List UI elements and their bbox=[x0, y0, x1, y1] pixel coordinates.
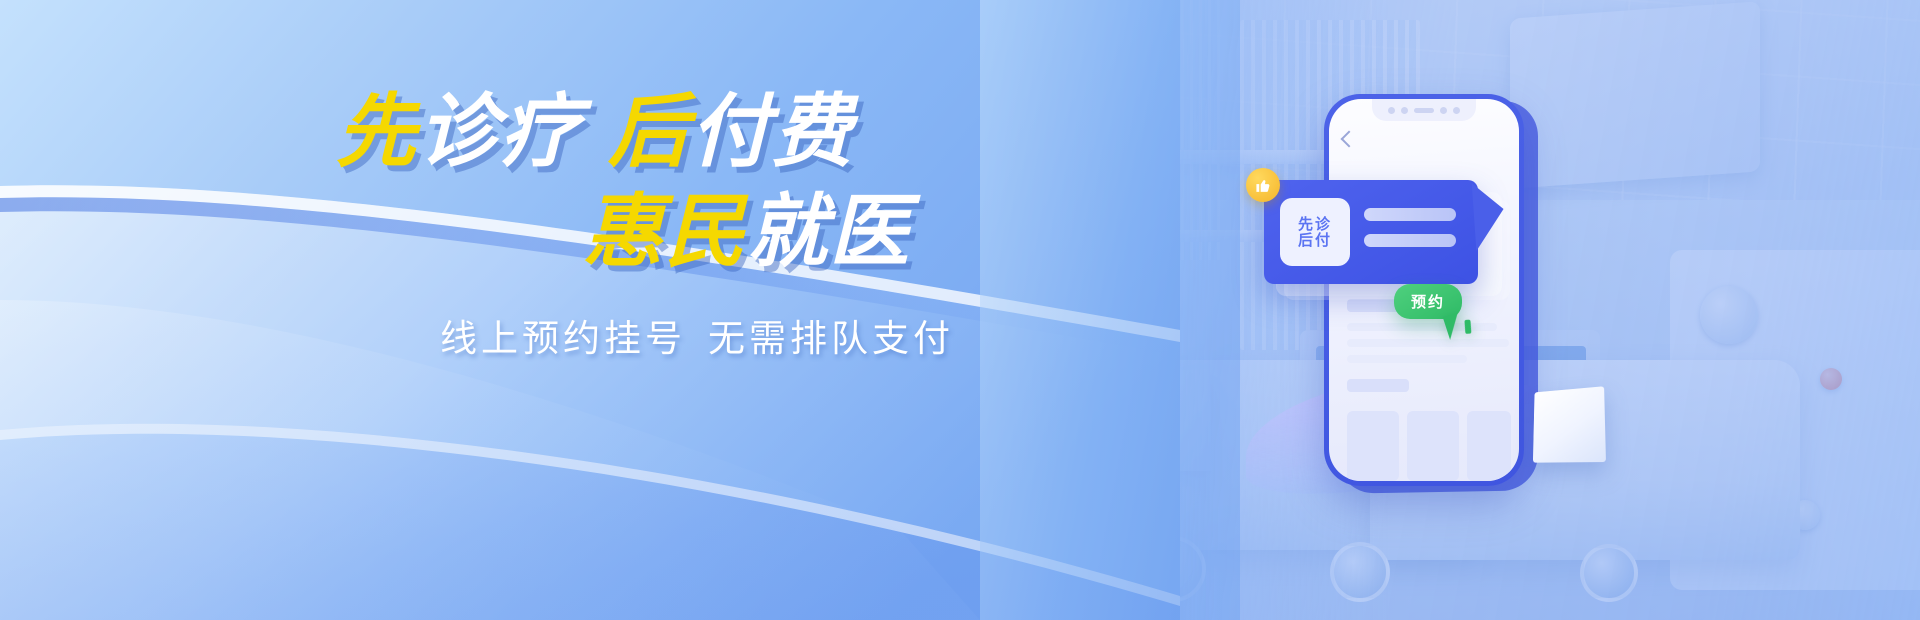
skeleton-line bbox=[1347, 379, 1409, 392]
bubble-text-line bbox=[1364, 208, 1456, 221]
headline-line1-seg3: 后 bbox=[608, 85, 690, 178]
skeleton-line bbox=[1347, 355, 1467, 363]
appointment-pill-label: 预约 bbox=[1411, 293, 1445, 311]
chevron-left-icon[interactable] bbox=[1341, 131, 1358, 148]
pay-later-card-line1: 先诊 bbox=[1298, 216, 1332, 232]
pay-later-card: 先诊 后付 bbox=[1280, 198, 1350, 266]
subtitle-part-2: 无需排队支付 bbox=[708, 317, 954, 360]
headline-line1-seg1: 先 bbox=[336, 85, 418, 178]
skeleton-line bbox=[1347, 339, 1509, 347]
thumbs-up-glyph bbox=[1255, 177, 1272, 194]
headline-line1-seg2: 诊疗 bbox=[418, 85, 582, 178]
copy-block: 先诊疗后付费 惠民就医 线上预约挂号无需排队支付 bbox=[0, 0, 1120, 620]
chat-bubble: 先诊 后付 bbox=[1264, 180, 1478, 284]
banner-subtitle: 线上预约挂号无需排队支付 bbox=[440, 308, 954, 362]
headline-line-1: 先诊疗后付费 bbox=[336, 92, 854, 172]
headline-line-2: 惠民就医 bbox=[583, 192, 911, 272]
skeleton-tile bbox=[1467, 411, 1511, 481]
notch-dot bbox=[1440, 107, 1447, 114]
notch-speaker bbox=[1414, 108, 1434, 113]
notch-dot bbox=[1453, 107, 1460, 114]
skeleton-line bbox=[1347, 323, 1497, 331]
floating-cube bbox=[1533, 386, 1606, 462]
promo-banner: 先诊疗后付费 惠民就医 线上预约挂号无需排队支付 bbox=[0, 0, 1920, 620]
headline-line2-seg2: 就医 bbox=[747, 185, 911, 278]
notch-dot bbox=[1388, 107, 1395, 114]
subtitle-part-1: 线上预约挂号 bbox=[440, 317, 686, 360]
phone-illustration: 先诊 后付 预约 bbox=[1316, 88, 1616, 508]
bubble-tail bbox=[1472, 181, 1507, 251]
notch-dot bbox=[1401, 107, 1408, 114]
thumbs-up-icon bbox=[1246, 168, 1280, 202]
headline-line2-seg1: 惠民 bbox=[583, 185, 747, 278]
phone-notch bbox=[1372, 99, 1476, 121]
headline-line1-seg4: 付费 bbox=[690, 85, 854, 178]
bubble-text-line bbox=[1364, 234, 1456, 247]
skeleton-tile bbox=[1347, 411, 1399, 481]
skeleton-tile bbox=[1407, 411, 1459, 481]
pay-later-card-line2: 后付 bbox=[1298, 232, 1332, 248]
